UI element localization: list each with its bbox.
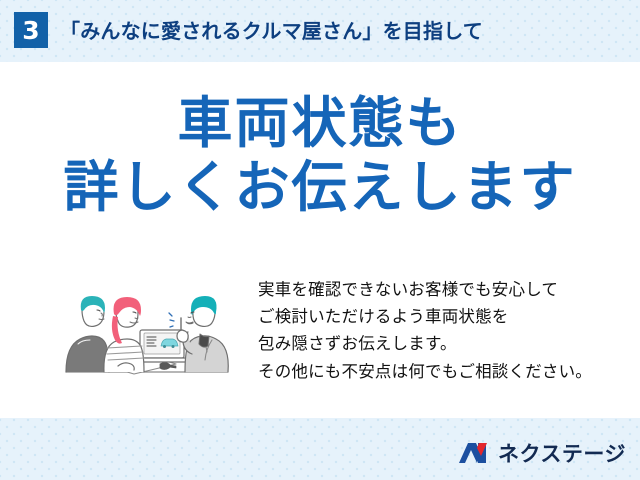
nextage-n-mark-icon [457, 441, 491, 466]
nextage-logo-text: ネクステージ [498, 438, 626, 468]
body-text: 実車を確認できないお客様でも安心して ご検討いただけるよう車両状態を 包み隠さず… [258, 276, 618, 385]
advertisement-page: 3 「みんなに愛されるクルマ屋さん」を目指して 車両状態も 詳しくお伝えします [0, 0, 640, 480]
body-text-line-4: その他にも不安点は何でもご相談ください。 [258, 358, 618, 385]
consultation-illustration-svg [52, 272, 242, 390]
body-text-line-2: ご検討いただけるよう車両状態を [258, 303, 618, 330]
headline-line-2: 詳しくお伝えします [0, 158, 640, 216]
body-text-line-1: 実車を確認できないお客様でも安心して [258, 276, 618, 303]
headline-line-1: 車両状態も [0, 94, 640, 152]
header: 3 「みんなに愛されるクルマ屋さん」を目指して [0, 0, 640, 62]
nextage-logo: ネクステージ [457, 438, 626, 468]
headline: 車両状態も 詳しくお伝えします [0, 94, 640, 217]
content-row: 実車を確認できないお客様でも安心して ご検討いただけるよう車両状態を 包み隠さず… [0, 270, 640, 410]
content-panel: 車両状態も 詳しくお伝えします [0, 62, 640, 418]
consultation-illustration [52, 272, 242, 390]
header-title: 「みんなに愛されるクルマ屋さん」を目指して [60, 15, 483, 44]
body-text-line-3: 包み隠さずお伝えします。 [258, 330, 618, 357]
section-number-badge: 3 [14, 12, 48, 48]
